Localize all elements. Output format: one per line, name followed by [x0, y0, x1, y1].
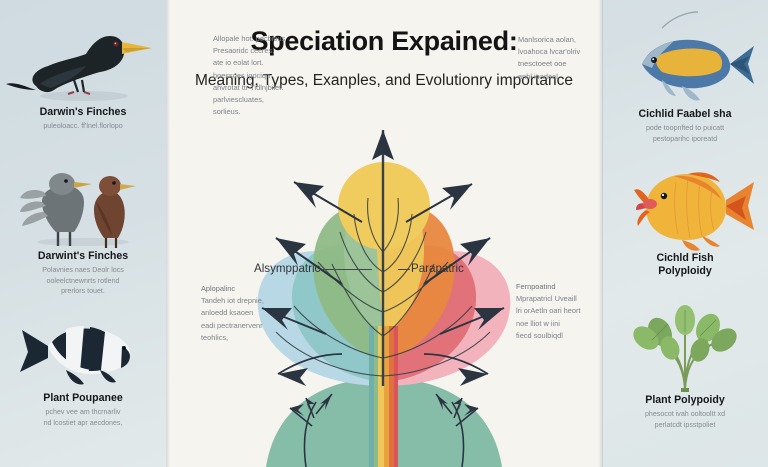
left-item-3[interactable]: Plant Poupanee pchev vee am thcrnarliv n… — [0, 300, 166, 428]
item-caption: Plant Poupanee — [0, 392, 166, 405]
subtext-line: perlatcdt ipsstpoliet — [602, 420, 768, 431]
callout-line: teohlics, — [201, 332, 264, 344]
subtext-line: puleoloacc. ff'lnel.florlopo — [0, 121, 166, 132]
callout-line: lri orAetln oari heort — [516, 305, 581, 317]
callout-heading: Fernpoatind — [516, 281, 581, 293]
callout-top-right: Manlsorica aolan, lvoahoca lvcar'olriv t… — [518, 34, 580, 83]
subtext-line: ooleelctnewnrts rotlend — [0, 276, 166, 287]
item-subtext: pode toopnfted to puicatt pestoparihc ip… — [602, 123, 768, 144]
item-subtext: puleoloacc. ff'lnel.florlopo — [0, 121, 166, 132]
speciation-tree-diagram — [166, 86, 602, 467]
right-item-2[interactable]: Cichld Fish Polyploidy — [602, 160, 768, 278]
item-caption: Plant Polypoidy — [602, 394, 768, 407]
label-connector-right — [398, 269, 410, 270]
callout-line: eadi pectranervenr — [201, 320, 264, 332]
subtext-line: pchev vee am thcrnarliv — [0, 407, 166, 418]
item-caption: Darwin's Finches — [0, 106, 166, 119]
callout-line: parlviescluates, — [213, 94, 285, 106]
callout-line: ate io eolat lort. — [213, 57, 285, 69]
callout-line: fiecd soulbiqdl — [516, 330, 581, 342]
callout-line: Allopale hot. pecbious — [213, 33, 285, 45]
item-caption: Darwint's Finches — [0, 250, 166, 263]
subtext-line: phesocot ivah ooltooltt xd — [602, 409, 768, 420]
callout-line: boessoes igociqn — [213, 70, 285, 82]
card-edge-left — [166, 0, 170, 467]
subtext-line: pode toopnfted to puicatt — [602, 123, 768, 134]
left-item-1[interactable]: Darwin's Finches puleoloacc. ff'lnel.flo… — [0, 14, 166, 132]
callout-line: ahvrotat ttr Tidlnjbilet. — [213, 82, 285, 94]
subtext-line: prerlors touet. — [0, 286, 166, 297]
callout-heading: Aplopalinc — [201, 283, 264, 295]
subtext-line: Polavnies naes Deolr locs — [0, 265, 166, 276]
label-connector-left — [322, 269, 372, 270]
callout-line: anloedd ksaoen — [201, 307, 264, 319]
green-plant-icon — [602, 302, 768, 394]
right-item-3[interactable]: Plant Polypoidy phesocot ivah ooltooltt … — [602, 302, 768, 430]
subtext-line: pestoparihc iporeatd — [602, 134, 768, 145]
two-finches-icon — [0, 158, 166, 250]
callout-line: noe lliot w iini — [516, 318, 581, 330]
infographic-poster: Speciation Expained: Meaning, Types, Exa… — [0, 0, 768, 467]
callout-line: Presaoridc cecres. — [213, 45, 285, 57]
label-parapatric: Parapatric — [411, 262, 464, 275]
item-subtext: phesocot ivah ooltooltt xd perlatcdt ips… — [602, 409, 768, 430]
item-subtext: Polavnies naes Deolr locs ooleelctnewnrt… — [0, 265, 166, 297]
callout-line: Mprapatricl Uveaill — [516, 293, 581, 305]
item-caption-line2: Polyploidy — [602, 265, 768, 278]
callout-line: anbl ioadeal. — [518, 71, 580, 83]
subtext-line: nd lcostiet apr aecdones, — [0, 418, 166, 429]
center-card: Speciation Expained: Meaning, Types, Exa… — [166, 0, 602, 467]
label-allopatric: Alsymppatric — [254, 262, 320, 275]
item-caption: Cichlid Faabel sha — [602, 108, 768, 121]
callout-line: lvoahoca lvcar'olriv — [518, 46, 580, 58]
callout-line: sorlieus. — [213, 106, 285, 118]
item-caption: Cichld Fish — [602, 252, 768, 265]
right-item-1[interactable]: Cichlid Faabel sha pode toopnfted to pui… — [602, 16, 768, 144]
callout-top-left: Allopale hot. pecbious Presaoridc cecres… — [213, 33, 285, 118]
callout-line: Manlsorica aolan, — [518, 34, 580, 46]
callout-line: Tandeh iot drepnie, — [201, 295, 264, 307]
goldfish-icon — [602, 160, 768, 252]
callout-bottom-right: Fernpoatind Mprapatricl Uveaill lri orAe… — [516, 281, 581, 342]
blue-yellow-fish-icon — [602, 16, 768, 108]
callout-bottom-left: Aplopalinc Tandeh iot drepnie, anloedd k… — [201, 283, 264, 344]
item-subtext: pchev vee am thcrnarliv nd lcostiet apr … — [0, 407, 166, 428]
left-item-2[interactable]: Darwint's Finches Polavnies naes Deolr l… — [0, 158, 166, 297]
striped-fish-icon — [0, 300, 166, 392]
black-bird-icon — [0, 14, 166, 106]
callout-line: tnesctoeet ooe — [518, 58, 580, 70]
